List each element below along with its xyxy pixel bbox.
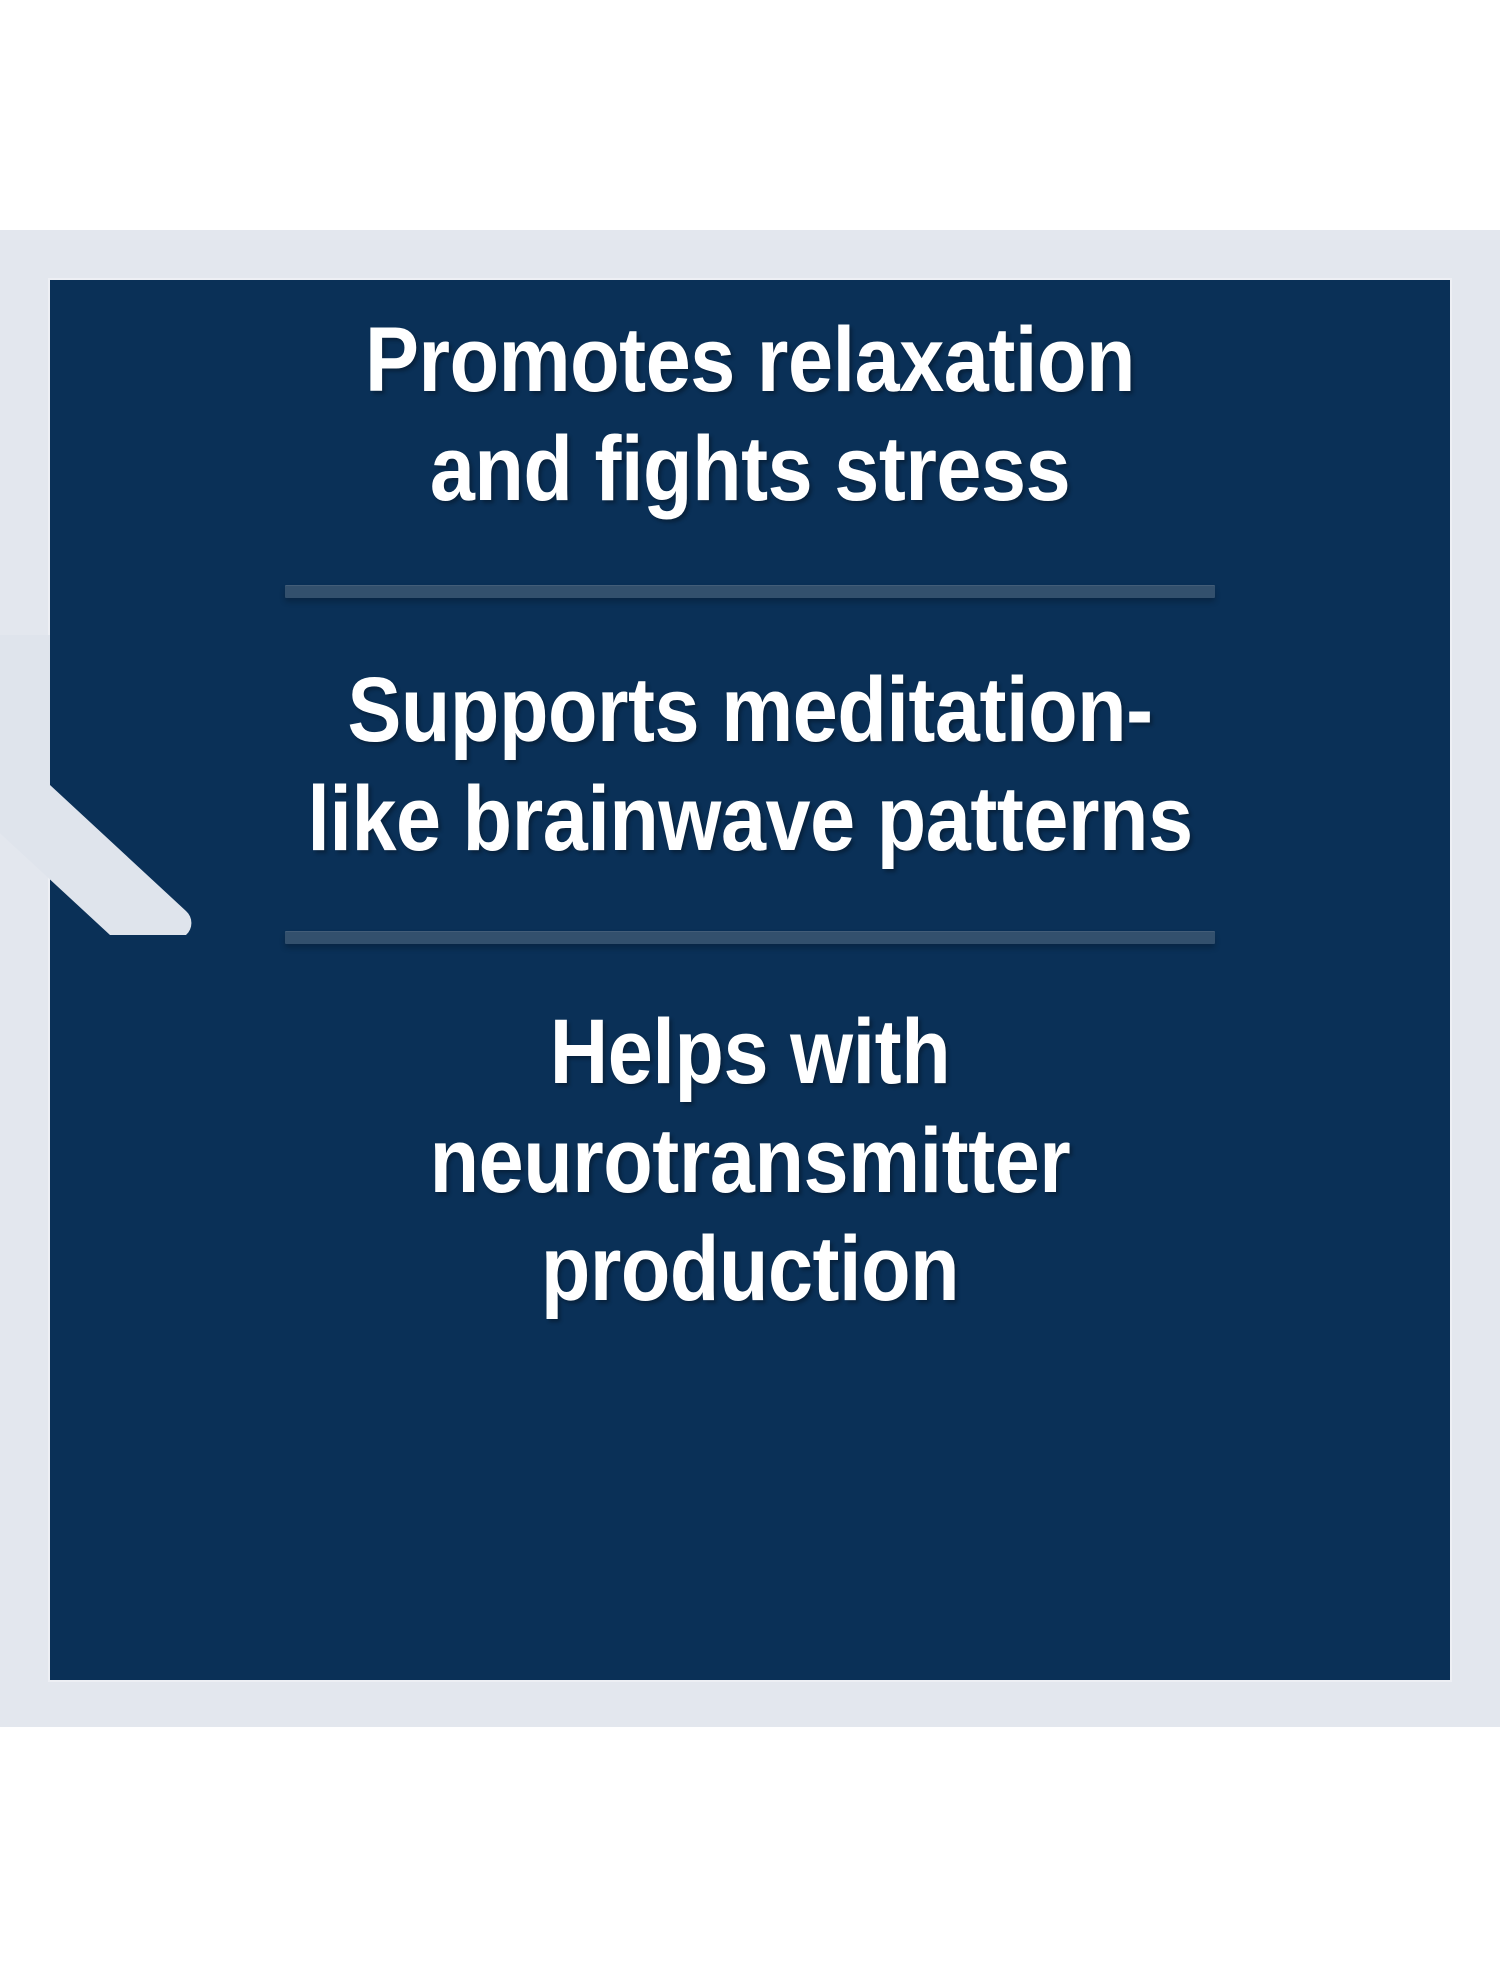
page-canvas: Promotes relaxation and fights stress Su… <box>0 0 1500 1963</box>
benefit-item-brainwave: Supports meditation-like brainwave patte… <box>284 656 1217 873</box>
benefits-list: Promotes relaxation and fights stress Su… <box>50 280 1450 1680</box>
benefit-divider-2 <box>285 931 1215 944</box>
benefit-item-neurotransmitter: Helps with neurotransmitter production <box>284 998 1217 1324</box>
benefit-divider-1 <box>285 585 1215 598</box>
benefit-item-relaxation: Promotes relaxation and fights stress <box>284 306 1217 523</box>
benefits-panel: Promotes relaxation and fights stress Su… <box>50 280 1450 1680</box>
